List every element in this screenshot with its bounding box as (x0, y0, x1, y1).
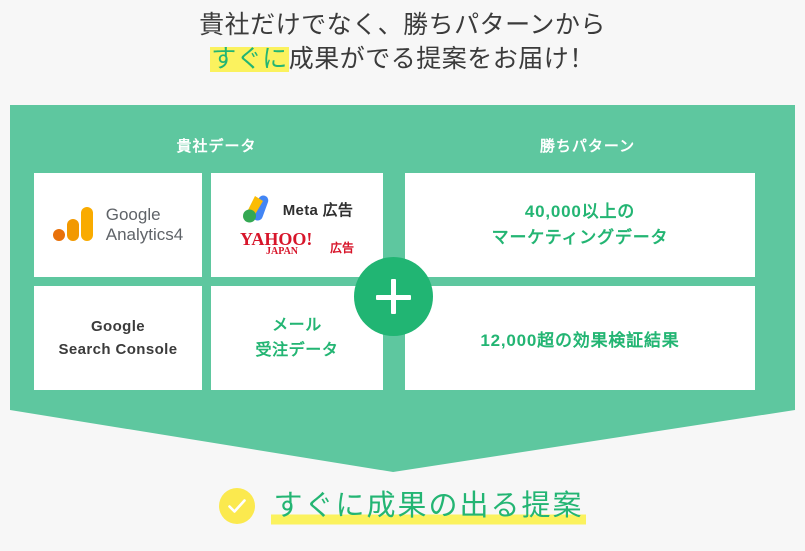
marketing-data-label: 40,000以上の マーケティングデータ (492, 199, 669, 251)
column-header-own-data: 貴社データ (34, 135, 399, 156)
marketing-data-line-1: 40,000以上の (492, 199, 669, 225)
footer-callout: すぐに成果の出る提案 (0, 487, 805, 525)
mail-order-line-1: メール (255, 313, 338, 338)
ga4-label: Google Analytics4 (106, 205, 184, 245)
promo-graphic: 貴社だけでなく、勝ちパターンから すぐに成果がでる提案をお届け！ 貴社データ 勝… (0, 0, 805, 551)
mail-order-line-2: 受注データ (255, 338, 338, 363)
yahoo-ads-row: YAHOO! JAPAN 広告 (240, 228, 354, 256)
google-analytics-logo (53, 205, 97, 245)
headline-line-1: 貴社だけでなく、勝ちパターンから (0, 8, 805, 42)
svg-text:JAPAN: JAPAN (266, 246, 299, 256)
yahoo-ads-label: 広告 (330, 240, 354, 256)
marketing-data-line-2: マーケティングデータ (492, 225, 669, 251)
headline-line-2: すぐに成果がでる提案をお届け！ (0, 42, 805, 76)
footer-text: すぐに成果の出る提案 (271, 487, 585, 525)
yahoo-japan-logo: YAHOO! JAPAN (240, 228, 326, 256)
plus-icon (354, 257, 433, 336)
ga4-label-version: 4 (174, 225, 183, 244)
check-circle-icon (219, 488, 255, 524)
mail-order-label: メール 受注データ (255, 313, 338, 363)
card-marketing-data[interactable]: 40,000以上の マーケティングデータ (405, 173, 755, 277)
page-title: 貴社だけでなく、勝ちパターンから すぐに成果がでる提案をお届け！ (0, 8, 805, 76)
check-mark-glyph (219, 488, 255, 524)
ga4-label-line-2: Analytics4 (106, 225, 184, 245)
meta-ads-label: Meta 広告 (283, 199, 353, 220)
column-header-win-pattern: 勝ちパターン (405, 135, 770, 156)
gsc-label-line-2: Search Console (59, 338, 178, 361)
headline-highlight: すぐに (210, 45, 289, 73)
ga4-content: Google Analytics4 (53, 205, 184, 245)
verification-results-label: 12,000超の効果検証結果 (480, 326, 679, 351)
ga4-label-analytics: Analytics (106, 225, 174, 244)
headline-line-2-rest: 成果がでる提案をお届け！ (289, 45, 595, 73)
google-ads-logo (241, 194, 273, 224)
card-google-analytics-4[interactable]: Google Analytics4 (34, 173, 202, 277)
card-ad-platforms[interactable]: Meta 広告 YAHOO! JAPAN 広告 (211, 173, 383, 277)
meta-ads-row: Meta 広告 (241, 194, 353, 224)
card-google-search-console[interactable]: Google Search Console (34, 286, 202, 390)
gsc-label-line-1: Google (59, 315, 178, 338)
card-verification-results[interactable]: 12,000超の効果検証結果 (405, 286, 755, 390)
ga4-label-line-1: Google (106, 205, 161, 224)
gsc-label: Google Search Console (59, 315, 178, 361)
